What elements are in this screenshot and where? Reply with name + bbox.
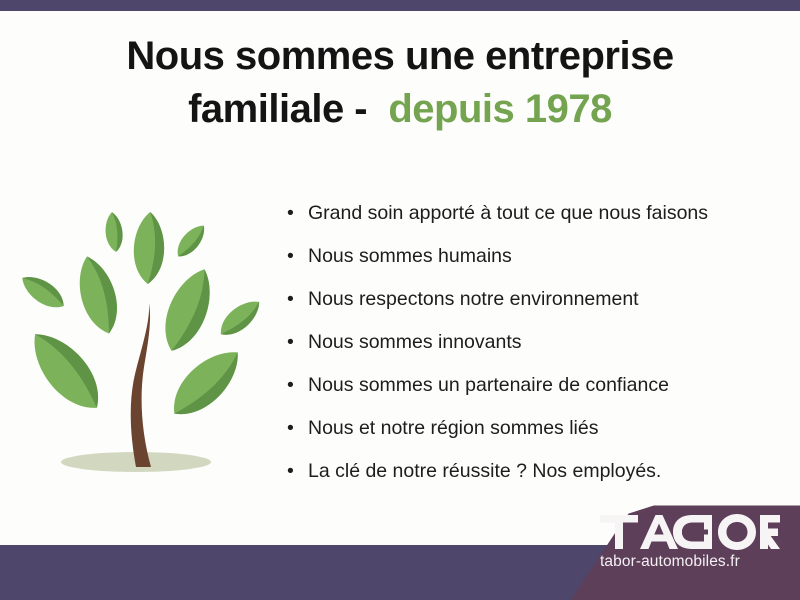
tree-leaf — [18, 269, 70, 314]
tree-leaf — [133, 211, 166, 284]
headline-line-1: Nous sommes une entreprise — [40, 30, 760, 83]
list-item: • Nous et notre région sommes liés — [283, 407, 783, 450]
headline-line-2-plain: familiale - — [188, 87, 367, 131]
page-title: Nous sommes une entreprise familiale - d… — [40, 30, 760, 136]
list-item: • La clé de notre réussite ? Nos employé… — [283, 450, 783, 493]
tree-illustration — [18, 185, 270, 485]
list-item: • Nous sommes un partenaire de confiance — [283, 364, 783, 407]
list-item: • Grand soin apporté à tout ce que nous … — [283, 192, 783, 235]
top-accent-band — [0, 0, 800, 11]
list-item: • Nous respectons notre environnement — [283, 278, 783, 321]
bullet-icon: • — [287, 192, 294, 235]
tabor-wordmark-logo — [600, 513, 780, 551]
list-item-label: Nous et notre région sommes liés — [308, 417, 598, 439]
tree-leaf — [154, 262, 221, 357]
slide-canvas: Nous sommes une entreprise familiale - d… — [0, 0, 800, 600]
bullet-icon: • — [287, 407, 294, 450]
tree-leaf — [71, 252, 125, 338]
bullet-icon: • — [287, 321, 294, 364]
list-item-label: Nous sommes humains — [308, 245, 512, 267]
headline-line-2: familiale - depuis 1978 — [40, 83, 760, 136]
list-item: • Nous sommes innovants — [283, 321, 783, 364]
logo-banner: tabor-automobiles.fr — [548, 505, 800, 600]
tree-leaf — [20, 321, 113, 420]
list-item-label: Nous sommes un partenaire de confiance — [308, 374, 669, 396]
bullet-icon: • — [287, 450, 294, 493]
bullet-icon: • — [287, 364, 294, 407]
tree-leaf — [172, 220, 211, 261]
headline-accent: depuis 1978 — [388, 87, 612, 131]
tree-leaf — [214, 294, 266, 342]
list-item-label: Nous respectons notre environnement — [308, 288, 639, 310]
list-item-label: La clé de notre réussite ? Nos employés. — [308, 460, 661, 482]
logo-domain-text: tabor-automobiles.fr — [600, 553, 796, 571]
tree-trunk — [131, 303, 151, 467]
list-item-label: Nous sommes innovants — [308, 331, 522, 353]
tree-leaf — [161, 339, 250, 427]
value-list: • Grand soin apporté à tout ce que nous … — [283, 192, 783, 493]
bullet-icon: • — [287, 278, 294, 321]
logo-content: tabor-automobiles.fr — [600, 513, 796, 571]
list-item-label: Grand soin apporté à tout ce que nous fa… — [308, 202, 708, 224]
tree-leaf — [104, 211, 125, 253]
bullet-icon: • — [287, 235, 294, 278]
list-item: • Nous sommes humains — [283, 235, 783, 278]
